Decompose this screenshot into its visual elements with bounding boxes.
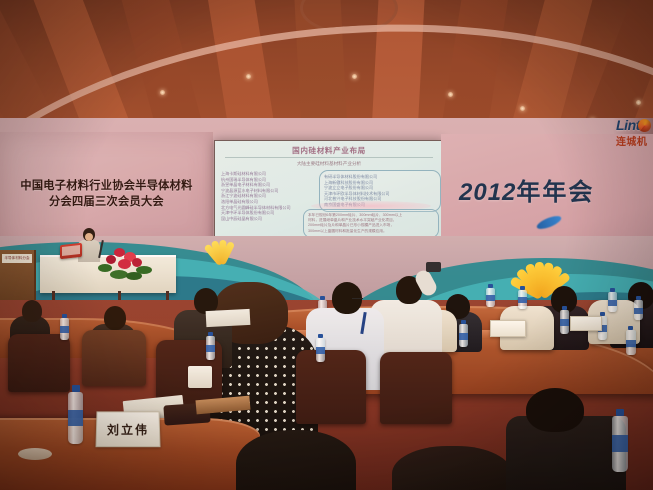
paper-cup [188, 366, 212, 388]
slide-title: 国内硅材料产业布局 [215, 145, 443, 156]
table-name-card [570, 316, 602, 331]
water-bottle-foreground-right [612, 416, 628, 472]
slide-subtitle: 大陆主要硅材料基材料产业分析 [215, 161, 443, 167]
water-bottle [316, 338, 325, 362]
wooden-ceiling [0, 0, 653, 132]
left-banner-line2: 分会四届三次会员大会 [0, 194, 213, 210]
slide-left-column: 上海卡斯硅材料有限公司 杭州国瑞半导体有限公司 浙昱单晶电子材料有限公司 宁波晶… [221, 171, 313, 221]
podium-plate: 半导体材料分会 [2, 254, 32, 263]
laptop [60, 243, 82, 259]
slide-note-box: 本年已规划6年第200mm硅片、300mm硅片、300mm以上 材料，进展继单晶… [303, 209, 439, 238]
slide-title-rule [225, 157, 433, 158]
flower-arrangement [96, 246, 154, 282]
coaster [18, 448, 52, 460]
banner-suffix: 年年会 [516, 179, 594, 206]
slide-note-line: 300mm以上晶圆材料和批量化生产的规模应用。 [308, 229, 434, 234]
right-banner-text: 2012年年会 [459, 172, 594, 207]
water-bottle-foreground [68, 392, 83, 444]
water-bottle [459, 324, 468, 347]
left-banner-line1: 中国电子材料行业协会半导体材料 [0, 178, 213, 194]
water-bottle [634, 300, 643, 320]
water-bottle [206, 336, 215, 360]
linton-logo: Lint 连城机 [616, 117, 651, 148]
water-bottle [608, 292, 617, 312]
chair [8, 334, 70, 392]
camera-device [426, 262, 441, 272]
banner-year: 2012 [459, 179, 516, 206]
conference-photo-scene: 中国电子材料行业协会半导体材料 分会四届三次会员大会 国内硅材料产业布局 大陆主… [0, 0, 653, 490]
logo-english-text: Lint [616, 117, 640, 133]
podium: 半导体材料分会 [0, 250, 36, 304]
banner-swoosh-icon [535, 213, 562, 231]
water-bottle [518, 290, 527, 309]
left-projection-banner: 中国电子材料行业协会半导体材料 分会四届三次会员大会 [0, 132, 213, 250]
chair [82, 330, 146, 386]
name-card-foreground: 刘立伟 [95, 411, 160, 447]
document-sheet [206, 309, 251, 327]
logo-chinese-text: 连城机 [616, 133, 651, 148]
speaker-face [85, 233, 93, 241]
water-bottle [60, 318, 69, 340]
sunburst-icon-left [186, 236, 232, 264]
water-bottle [626, 330, 636, 355]
eyeglasses [352, 298, 363, 302]
logo-swirl-icon [638, 119, 651, 132]
chair [380, 352, 452, 424]
water-bottle [486, 288, 495, 307]
chair [296, 350, 366, 424]
left-banner-text: 中国电子材料行业协会半导体材料 分会四届三次会员大会 [0, 178, 213, 210]
table-name-card [490, 320, 526, 337]
water-bottle [560, 310, 569, 334]
slide-left-item: 昆山中辰硅晶有限公司 [221, 216, 313, 222]
